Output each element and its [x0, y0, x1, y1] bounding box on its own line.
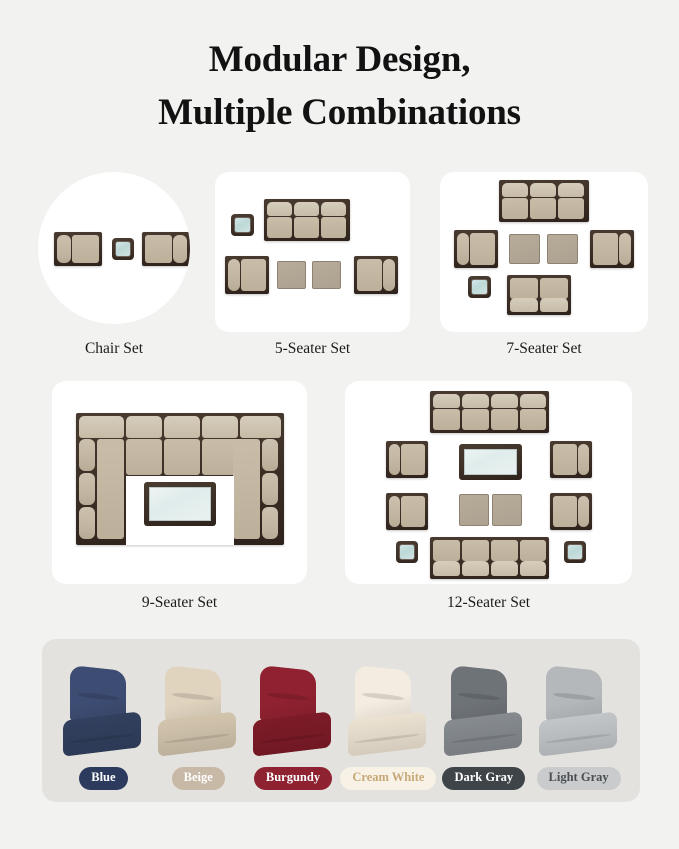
color-option-dark-gray[interactable]: Dark Gray	[436, 668, 531, 790]
side-table	[112, 238, 134, 260]
chair-left-upper	[386, 441, 428, 478]
chair-right-upper	[550, 441, 592, 478]
cushion-art-beige	[156, 668, 240, 760]
7-seater-illustration	[440, 172, 648, 332]
side-table-right	[564, 541, 586, 563]
color-option-burgundy[interactable]: Burgundy	[246, 668, 341, 790]
12-seater-illustration	[345, 381, 632, 584]
side-table-left	[396, 541, 418, 563]
color-label-cream-white: Cream White	[340, 767, 436, 790]
color-label-blue: Blue	[79, 767, 127, 790]
set-label-chair-set: Chair Set	[38, 340, 190, 358]
cushion-seat	[158, 712, 236, 758]
color-option-cream-white[interactable]: Cream White	[340, 668, 436, 790]
set-label-5-seater-set: 5-Seater Set	[215, 340, 410, 358]
loveseat-two-seat	[507, 275, 571, 315]
set-label-12-seater-set: 12-Seater Set	[345, 594, 632, 612]
sofa-three-seat	[499, 180, 589, 222]
cushion-seat	[444, 712, 522, 758]
side-table	[231, 214, 254, 236]
cushion-seat	[63, 712, 141, 758]
color-option-blue[interactable]: Blue	[56, 668, 151, 790]
ottoman-right	[547, 234, 578, 264]
color-options-panel: Blue Beige Burgundy Cream White	[42, 639, 640, 802]
color-option-beige[interactable]: Beige	[151, 668, 246, 790]
color-label-light-gray: Light Gray	[537, 767, 621, 790]
chair-right	[142, 232, 190, 266]
color-label-burgundy: Burgundy	[254, 767, 332, 790]
ottoman-left	[509, 234, 540, 264]
chair-set-illustration	[38, 172, 190, 324]
color-label-dark-gray: Dark Gray	[442, 767, 525, 790]
set-9-seater-set[interactable]: 9-Seater Set	[52, 381, 307, 584]
cushion-art-cream-white	[346, 668, 430, 760]
5-seater-illustration	[215, 172, 410, 332]
chair-left	[225, 256, 269, 294]
coffee-table	[459, 444, 522, 480]
chair-left	[54, 232, 102, 266]
ottoman-left	[277, 261, 306, 289]
ottoman-left	[459, 494, 489, 526]
set-label-7-seater-set: 7-Seater Set	[440, 340, 648, 358]
sofa-three-seat	[264, 199, 350, 241]
cushion-seat	[539, 712, 617, 758]
cushion-art-dark-gray	[442, 668, 526, 760]
cushion-art-burgundy	[251, 668, 335, 760]
color-label-beige: Beige	[172, 767, 225, 790]
sofa-four-seat-bottom	[430, 537, 549, 579]
set-chair-set[interactable]: Chair Set	[38, 172, 190, 324]
chair-right-lower	[550, 493, 592, 530]
cushion-art-light-gray	[537, 668, 621, 760]
cushion-seat	[348, 712, 426, 758]
set-5-seater-set[interactable]: 5-Seater Set	[215, 172, 410, 332]
cushion-seat	[253, 712, 331, 758]
title-line-1: Modular Design,	[0, 34, 679, 87]
ottoman-right	[312, 261, 341, 289]
side-table	[468, 276, 491, 298]
cushion-art-blue	[61, 668, 145, 760]
set-label-9-seater-set: 9-Seater Set	[52, 594, 307, 612]
page-title: Modular Design, Multiple Combinations	[0, 0, 679, 139]
chair-right	[354, 256, 398, 294]
color-option-light-gray[interactable]: Light Gray	[531, 668, 626, 790]
sofa-four-seat-top	[430, 391, 549, 433]
chair-right	[590, 230, 634, 268]
title-line-2: Multiple Combinations	[0, 87, 679, 140]
chair-left-lower	[386, 493, 428, 530]
color-swatch-row: Blue Beige Burgundy Cream White	[42, 639, 640, 802]
9-seater-illustration	[52, 381, 307, 584]
set-7-seater-set[interactable]: 7-Seater Set	[440, 172, 648, 332]
set-12-seater-set[interactable]: 12-Seater Set	[345, 381, 632, 584]
chair-left	[454, 230, 498, 268]
ottoman-right	[492, 494, 522, 526]
coffee-table	[144, 482, 216, 526]
